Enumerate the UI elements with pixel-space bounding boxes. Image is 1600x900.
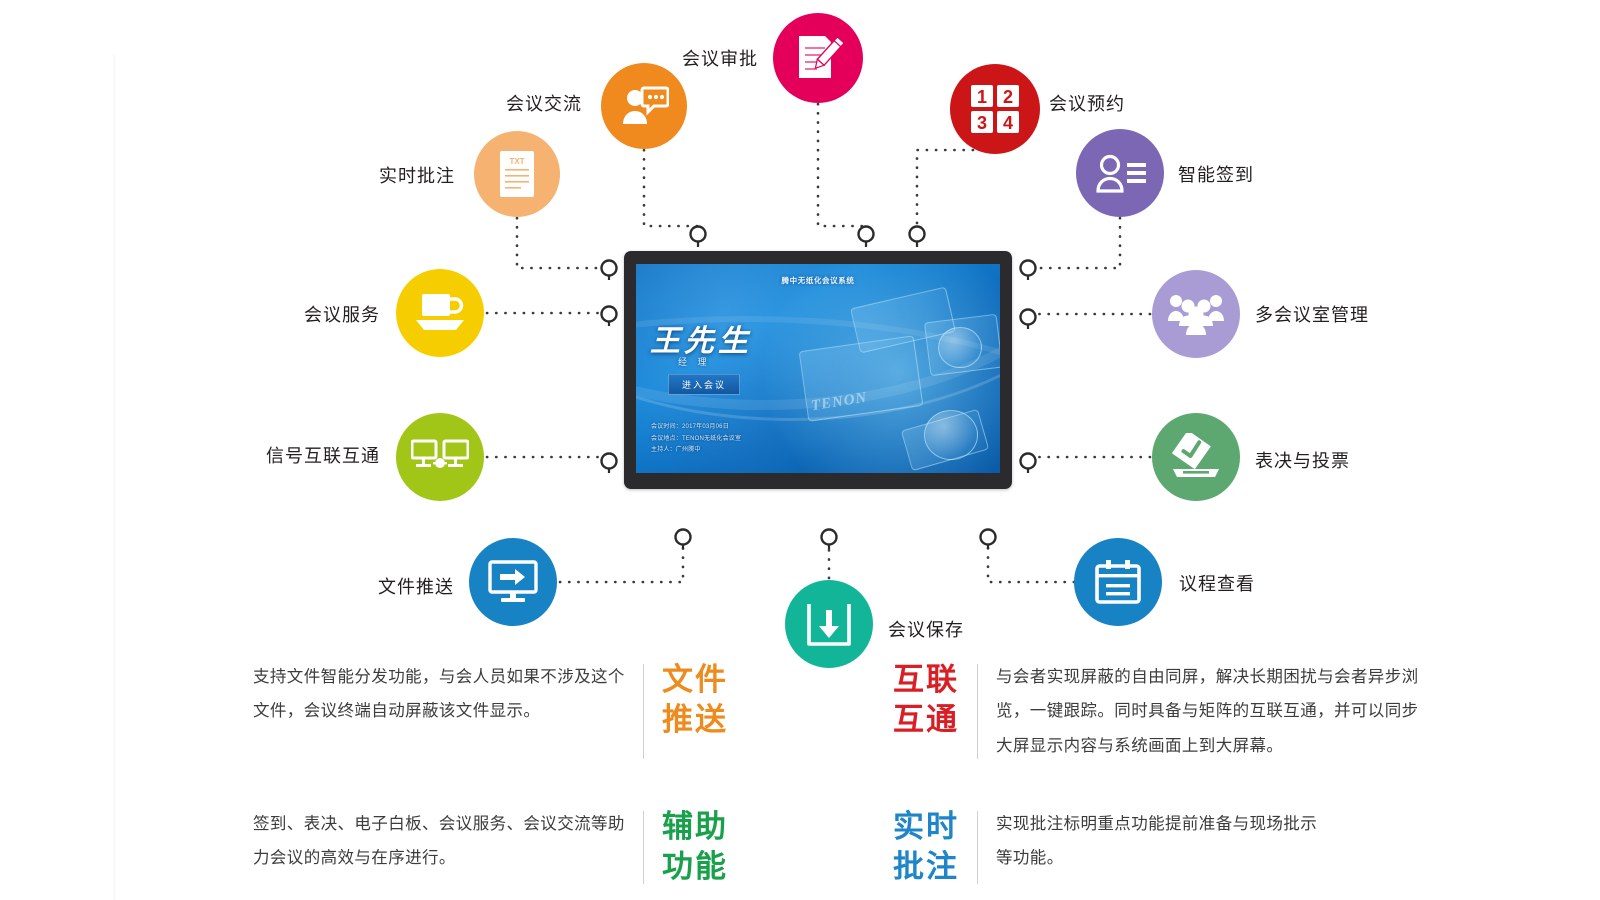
label-multi-room-manage: 多会议室管理: [1255, 301, 1369, 327]
label-meeting-chat: 会议交流: [506, 90, 582, 116]
ballot-check-icon: [1169, 433, 1223, 481]
svg-text:1: 1: [977, 87, 987, 107]
screen-system-title: 腾中无纸化会议系统: [636, 275, 1000, 286]
label-meeting-service: 会议服务: [304, 301, 380, 327]
description-row-2: 签到、表决、电子白板、会议服务、会议交流等助力会议的高效与在序进行。 辅助 功能…: [253, 807, 1493, 888]
description-divider: [643, 664, 644, 759]
node-smart-check-in[interactable]: [1076, 129, 1164, 217]
meeting-time: 会议时间：2017年03月06日: [651, 422, 741, 434]
download-box-icon: [806, 601, 852, 647]
person-list-icon: [1094, 153, 1146, 193]
monitor-screen: TENON 腾中无纸化会议系统 王先生 经 理 进入会议 会议时间：2017年0…: [636, 264, 1000, 473]
document-pen-icon: [793, 33, 843, 83]
node-meeting-booking[interactable]: 1 2 3 4: [950, 64, 1040, 154]
node-signal-interconnect[interactable]: [396, 413, 484, 501]
node-meeting-chat[interactable]: [601, 63, 687, 149]
description-divider: [977, 664, 978, 759]
screen-user-role: 经 理: [678, 355, 711, 368]
node-file-push[interactable]: [469, 538, 557, 626]
people-group-icon: [1167, 293, 1225, 335]
node-real-time-annotation[interactable]: TXT: [474, 131, 560, 217]
txt-document-icon: TXT: [497, 150, 537, 198]
description-interconnect: 互联 互通 与会者实现屏蔽的自由同屏，解决长期困扰与会者异步浏览，一键跟踪。同时…: [893, 660, 1493, 763]
node-vote-and-ballot[interactable]: [1152, 413, 1240, 501]
label-smart-check-in: 智能签到: [1178, 161, 1254, 187]
node-meeting-approval[interactable]: [773, 13, 863, 103]
label-signal-interconnect: 信号互联互通: [266, 442, 380, 468]
infographic-canvas: TENON 腾中无纸化会议系统 王先生 经 理 进入会议 会议时间：2017年0…: [0, 0, 1600, 900]
description-file-push-text: 支持文件智能分发功能，与会人员如果不涉及这个文件，会议终端自动屏蔽该文件显示。: [253, 660, 625, 729]
node-multi-room-manage[interactable]: [1152, 270, 1240, 358]
screen-arrow-icon: [488, 560, 538, 604]
coffee-cup-icon: [414, 292, 466, 334]
label-vote-and-ballot: 表决与投票: [1255, 447, 1350, 473]
description-interconnect-key: 互联 互通: [893, 660, 959, 741]
description-row-1: 支持文件智能分发功能，与会人员如果不涉及这个文件，会议终端自动屏蔽该文件显示。 …: [253, 660, 1493, 763]
description-auxiliary-key: 辅助 功能: [662, 807, 728, 888]
node-meeting-save[interactable]: [785, 580, 873, 668]
meeting-host: 主持人：广州腾中: [651, 445, 741, 457]
node-agenda-view[interactable]: [1074, 538, 1162, 626]
label-meeting-booking: 会议预约: [1049, 90, 1125, 116]
enter-meeting-button[interactable]: 进入会议: [668, 374, 740, 395]
description-divider: [977, 811, 978, 884]
description-real-time-annotation: 实时 批注 实现批注标明重点功能提前准备与现场批示等功能。: [893, 807, 1493, 888]
label-meeting-approval: 会议审批: [682, 45, 758, 71]
description-file-push: 支持文件智能分发功能，与会人员如果不涉及这个文件，会议终端自动屏蔽该文件显示。 …: [253, 660, 893, 763]
node-meeting-service[interactable]: [396, 269, 484, 357]
screen-user-name: 王先生: [650, 316, 752, 360]
description-annotation-text: 实现批注标明重点功能提前准备与现场批示等功能。: [996, 807, 1326, 876]
label-real-time-annotation: 实时批注: [379, 162, 455, 188]
agenda-board-icon: [1095, 560, 1141, 604]
label-agenda-view: 议程查看: [1179, 570, 1255, 596]
meeting-place: 会议地点：TENON无纸化会议室: [651, 434, 741, 446]
svg-text:2: 2: [1003, 87, 1013, 107]
feature-description-grid: 支持文件智能分发功能，与会人员如果不涉及这个文件，会议终端自动屏蔽该文件显示。 …: [253, 660, 1493, 900]
label-file-push: 文件推送: [378, 573, 454, 599]
description-auxiliary-functions: 签到、表决、电子白板、会议服务、会议交流等助力会议的高效与在序进行。 辅助 功能: [253, 807, 893, 888]
meeting-display-monitor: TENON 腾中无纸化会议系统 王先生 经 理 进入会议 会议时间：2017年0…: [624, 251, 1012, 489]
description-auxiliary-text: 签到、表决、电子白板、会议服务、会议交流等助力会议的高效与在序进行。: [253, 807, 625, 876]
description-interconnect-text: 与会者实现屏蔽的自由同屏，解决长期困扰与会者异步浏览，一键跟踪。同时具备与矩阵的…: [996, 660, 1428, 763]
description-file-push-key: 文件 推送: [662, 660, 728, 741]
label-meeting-save: 会议保存: [888, 616, 964, 642]
left-divider-rule: [113, 55, 116, 900]
description-annotation-key: 实时 批注: [893, 807, 959, 888]
svg-text:3: 3: [977, 113, 987, 133]
chat-person-icon: [619, 84, 669, 128]
grid-1234-icon: 1 2 3 4: [970, 84, 1020, 134]
svg-text:TXT: TXT: [509, 157, 524, 166]
screen-decor-globe-1: [938, 327, 982, 369]
screen-meeting-meta: 会议时间：2017年03月06日 会议地点：TENON无纸化会议室 主持人：广州…: [651, 422, 741, 457]
svg-text:4: 4: [1003, 113, 1013, 133]
two-monitors-icon: [411, 439, 469, 475]
description-divider: [643, 811, 644, 884]
